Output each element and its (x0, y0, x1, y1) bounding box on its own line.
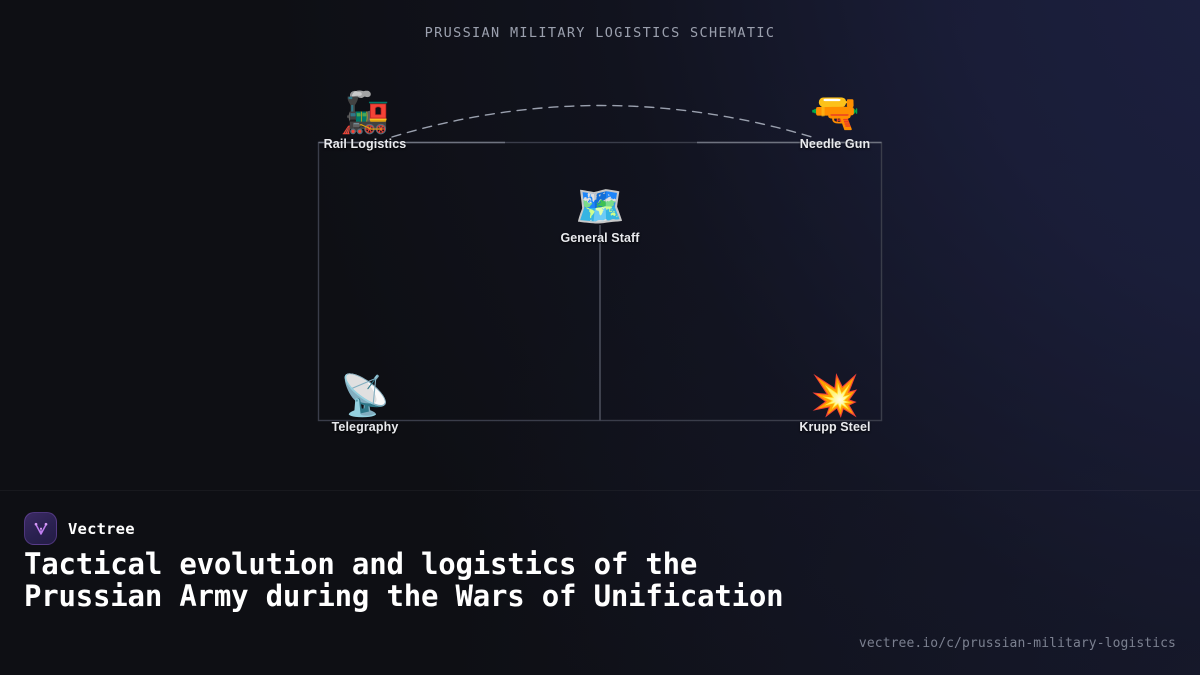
node-label-telegraphy: Telegraphy (275, 420, 455, 434)
logistics-schematic-diagram: 🚂 Rail Logistics 🔫 Needle Gun 🗺️ General… (0, 0, 1200, 490)
world-map-icon: 🗺️ (510, 184, 690, 230)
satellite-antenna-icon: 📡 (275, 373, 455, 419)
vectree-branching-glyph (31, 519, 51, 539)
brand-name: Vectree (68, 520, 135, 538)
node-label-general-staff: General Staff (510, 231, 690, 245)
node-rail-logistics[interactable]: 🚂 Rail Logistics (275, 90, 455, 151)
vectree-logo-icon (24, 512, 57, 545)
node-label-needle-gun: Needle Gun (745, 137, 925, 151)
collision-explosion-icon: 💥 (745, 373, 925, 419)
share-url: vectree.io/c/prussian-military-logistics (859, 636, 1176, 651)
node-telegraphy[interactable]: 📡 Telegraphy (275, 373, 455, 434)
steam-locomotive-icon: 🚂 (275, 90, 455, 136)
node-label-rail-logistics: Rail Logistics (275, 137, 455, 151)
content-headline: Tactical evolution and logistics of the … (24, 548, 824, 612)
node-needle-gun[interactable]: 🔫 Needle Gun (745, 90, 925, 151)
diagram-connections (0, 0, 1200, 490)
brand-row[interactable]: Vectree (24, 512, 135, 545)
node-general-staff[interactable]: 🗺️ General Staff (510, 184, 690, 245)
water-pistol-icon: 🔫 (745, 90, 925, 136)
node-krupp-steel[interactable]: 💥 Krupp Steel (745, 373, 925, 434)
footer-divider (0, 490, 1200, 491)
node-label-krupp-steel: Krupp Steel (745, 420, 925, 434)
